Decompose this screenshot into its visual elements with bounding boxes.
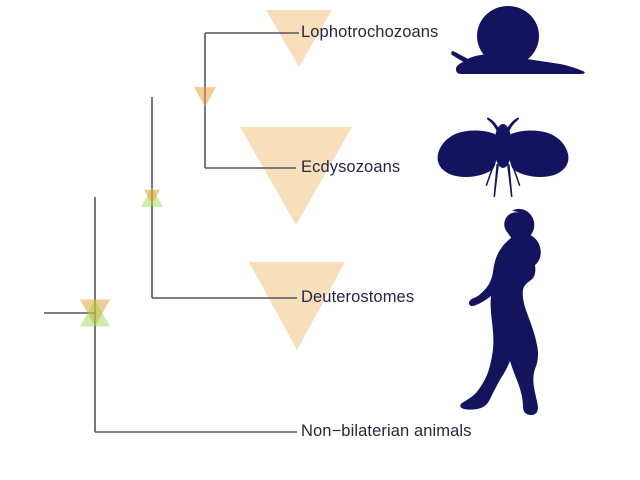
phylogenetic-tree-figure: Lophotrochozoans Ecdysozoans Deuterostom… — [0, 0, 640, 480]
tip-label-ecdysozoans: Ecdysozoans — [301, 159, 400, 176]
tree-canvas — [0, 0, 640, 480]
moth-icon — [438, 118, 569, 197]
clade-triangle-ecdysozoans — [240, 127, 352, 225]
tip-label-deuterostomes: Deuterostomes — [301, 289, 414, 306]
tip-label-non-bilaterian-animals: Non−bilaterian animals — [301, 423, 472, 440]
snail-icon — [451, 6, 585, 74]
tree-branches — [44, 33, 299, 432]
silhouette-group — [438, 6, 585, 415]
internal-node-markers — [80, 87, 216, 326]
human-icon — [460, 209, 541, 415]
node-marker-protostomia-triangle-down — [194, 87, 216, 107]
clade-triangle-deuterostomes — [249, 262, 345, 350]
tip-label-lophotrochozoans: Lophotrochozoans — [301, 24, 438, 41]
